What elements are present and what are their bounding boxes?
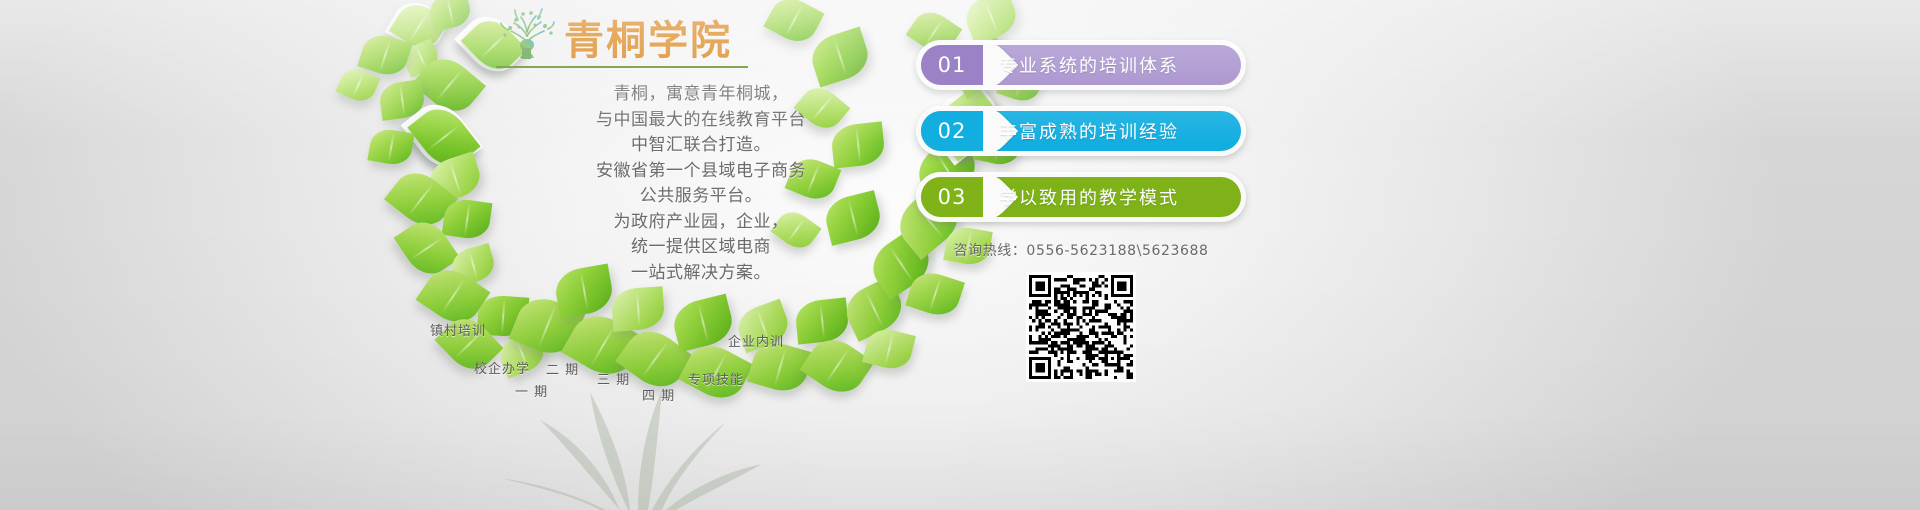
program-label-phase-2: 二 期	[546, 359, 579, 378]
intro-line: 与中国最大的在线教育平台	[476, 108, 926, 134]
leaf	[367, 127, 414, 168]
intro-line: 安徽省第一个县域电子商务	[476, 159, 926, 185]
feature-label: 丰富成熟的培训经验	[983, 118, 1241, 144]
feature-number: 02	[921, 111, 983, 151]
feature-number: 03	[921, 177, 983, 217]
tree-icon	[496, 6, 558, 62]
program-label-phase-1: 一 期	[515, 381, 548, 400]
feature-item-01[interactable]: 01 专业系统的培训体系	[916, 40, 1246, 90]
intro-paragraph: 青桐，寓意青年桐城， 与中国最大的在线教育平台 中智汇联合打造。 安徽省第一个县…	[476, 82, 926, 286]
brand-name: 青桐学院	[564, 20, 732, 62]
leaf	[669, 294, 736, 353]
leaf	[611, 286, 666, 332]
hotline-text: 咨询热线：0556-5623188\5623688	[916, 240, 1246, 260]
feature-item-02[interactable]: 02 丰富成熟的培训经验	[916, 106, 1246, 156]
intro-line: 一站式解决方案。	[476, 261, 926, 287]
promo-banner: 青桐学院 青桐，寓意青年桐城， 与中国最大的在线教育平台 中智汇联合打造。 安徽…	[0, 0, 1920, 510]
feature-label: 专业系统的培训体系	[983, 52, 1241, 78]
feature-item-03[interactable]: 03 学以致用的教学模式	[916, 172, 1246, 222]
feature-label: 学以致用的教学模式	[983, 184, 1241, 210]
intro-line: 为政府产业园，企业，	[476, 210, 926, 236]
program-label-phase-4: 四 期	[642, 385, 675, 404]
program-label-zhencun: 镇村培训	[430, 320, 486, 339]
leaf	[763, 0, 824, 49]
leaf	[960, 0, 1022, 46]
intro-line: 中智汇联合打造。	[476, 133, 926, 159]
qr-code[interactable]	[1026, 272, 1136, 382]
program-label-xiaoqi: 校企办学	[474, 358, 530, 377]
program-label-zhuanxiang: 专项技能	[688, 369, 744, 388]
brand-logo: 青桐学院	[496, 4, 756, 68]
leaf	[806, 26, 873, 87]
intro-line: 青桐，寓意青年桐城，	[476, 82, 926, 108]
feature-number: 01	[921, 45, 983, 85]
intro-line: 统一提供区域电商	[476, 235, 926, 261]
logo-divider	[496, 66, 748, 68]
program-label-qiye: 企业内训	[728, 331, 784, 350]
qr-code-image	[1029, 275, 1133, 379]
leaf	[794, 297, 850, 344]
feature-panel: 01 专业系统的培训体系 02 丰富成熟的培训经验 03 学以致用的教学模式 咨…	[916, 40, 1246, 382]
intro-line: 公共服务平台。	[476, 184, 926, 210]
program-label-phase-3: 三 期	[597, 369, 630, 388]
